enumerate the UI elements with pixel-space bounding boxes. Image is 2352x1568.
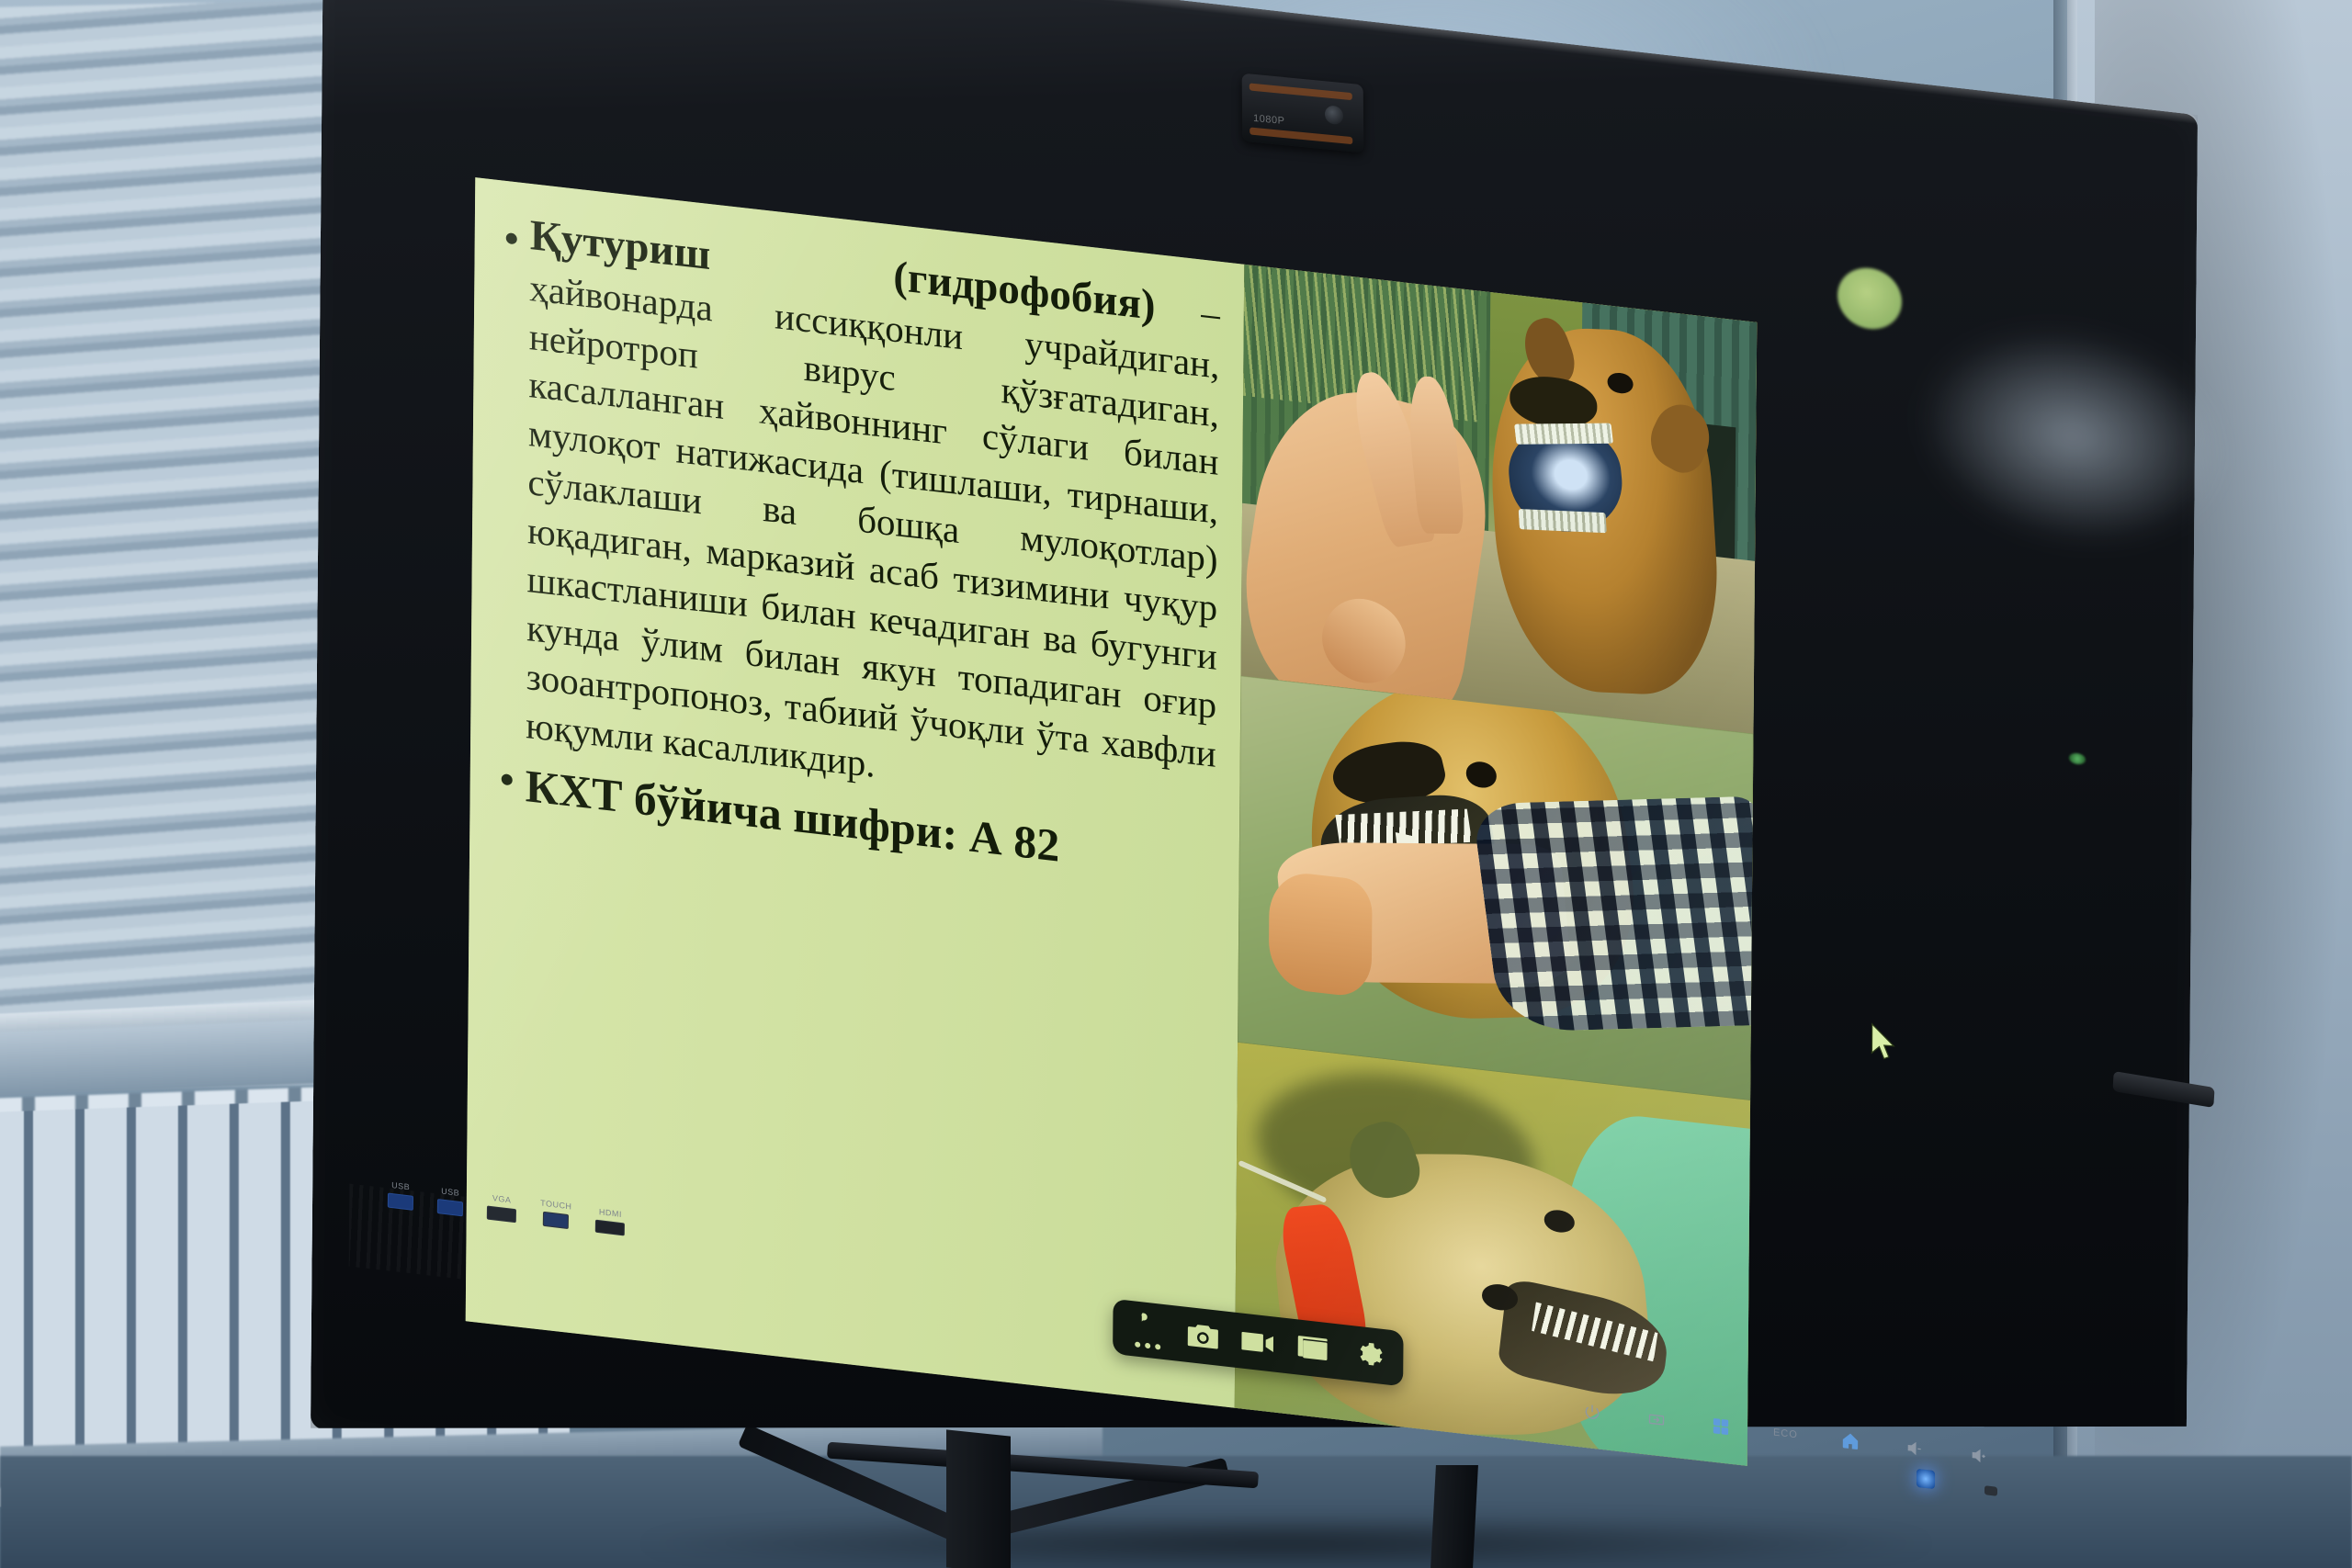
settings-tool-button[interactable]: [1349, 1335, 1389, 1376]
photo-dog-biting-arm: [1238, 676, 1753, 1100]
presentation-slide[interactable]: Қутуриш (гидрофобия) – ҳайвонарда иссиққ…: [466, 177, 1758, 1466]
record-tool-button[interactable]: [1238, 1322, 1279, 1363]
usb-port-icon-2: [437, 1199, 463, 1216]
slide-image-column: [1235, 265, 1758, 1466]
touch-port-icon: [543, 1212, 569, 1229]
display-screen[interactable]: Қутуриш (гидрофобия) – ҳайвонарда иссиққ…: [466, 177, 1758, 1466]
screenshot-tool-button[interactable]: [1183, 1315, 1224, 1357]
interactive-display[interactable]: Қутуриш (гидрофобия) – ҳайвонарда иссиққ…: [0, 0, 2352, 1568]
gear-icon: [1352, 1338, 1385, 1371]
ir-receiver: [1984, 1485, 1997, 1496]
power-status-led: [1917, 1469, 1935, 1489]
port-label-usb-2: USB: [441, 1186, 459, 1197]
port-label-vga: VGA: [492, 1193, 512, 1204]
annotate-tool-button[interactable]: [1128, 1310, 1169, 1351]
camera-icon: [1187, 1320, 1220, 1353]
webcam-resolution-label: 1080P: [1253, 113, 1284, 127]
port-usb-1[interactable]: USB: [388, 1180, 413, 1211]
volume-down-button[interactable]: [1903, 1435, 1927, 1461]
eco-button[interactable]: ECO: [1773, 1427, 1798, 1440]
photo-barking-dog-and-hand: [1240, 265, 1757, 734]
port-vga[interactable]: VGA: [487, 1192, 516, 1223]
port-label-hdmi: HDMI: [599, 1207, 622, 1219]
power-button[interactable]: [1580, 1399, 1604, 1426]
input-source-button[interactable]: [1645, 1406, 1668, 1433]
mouse-cursor: [1870, 1022, 1897, 1062]
photo-scene: Қутуриш (гидрофобия) – ҳайвонарда иссиққ…: [0, 0, 2352, 1568]
port-label-usb-1: USB: [391, 1180, 410, 1191]
photo-dog-red-collar: [1235, 1042, 1750, 1465]
webcam-lens-icon: [1325, 105, 1343, 125]
bullet-marker-icon: [506, 232, 517, 244]
port-touch[interactable]: TOUCH: [540, 1198, 572, 1229]
webcam-module: 1080P: [1242, 73, 1364, 153]
volume-up-icon: [1970, 1446, 1988, 1466]
bullet-definition: Қутуриш (гидрофобия) – ҳайвонарда иссиққ…: [502, 205, 1220, 827]
window-tool-button[interactable]: [1294, 1328, 1334, 1370]
usb-port-icon: [388, 1193, 413, 1211]
volume-down-icon: [1905, 1438, 1924, 1459]
definition-paragraph: Қутуриш (гидрофобия) – ҳайвонарда иссиққ…: [526, 208, 1220, 827]
window-icon: [1297, 1332, 1330, 1365]
apps-button[interactable]: [1709, 1414, 1733, 1440]
arrow-pointer-icon: [1870, 1022, 1897, 1062]
port-hdmi[interactable]: HDMI: [595, 1207, 625, 1236]
home-icon: [1841, 1431, 1860, 1451]
port-usb-2[interactable]: USB: [437, 1186, 463, 1216]
power-icon: [1583, 1402, 1601, 1422]
definition-body: – ҳайвонарда иссиққонли учрайдиган, нейр…: [526, 266, 1220, 785]
input-source-icon: [1647, 1409, 1666, 1429]
apps-grid-icon: [1712, 1416, 1730, 1437]
more-options-dots-icon: [1136, 1341, 1161, 1349]
home-button[interactable]: [1838, 1427, 1862, 1454]
video-camera-icon: [1242, 1326, 1275, 1359]
bullet-marker-icon-2: [502, 773, 513, 785]
volume-up-button[interactable]: [1967, 1442, 1991, 1469]
pen-annotation-icon: [1132, 1310, 1165, 1328]
bezel-reflection: [1919, 313, 2224, 558]
